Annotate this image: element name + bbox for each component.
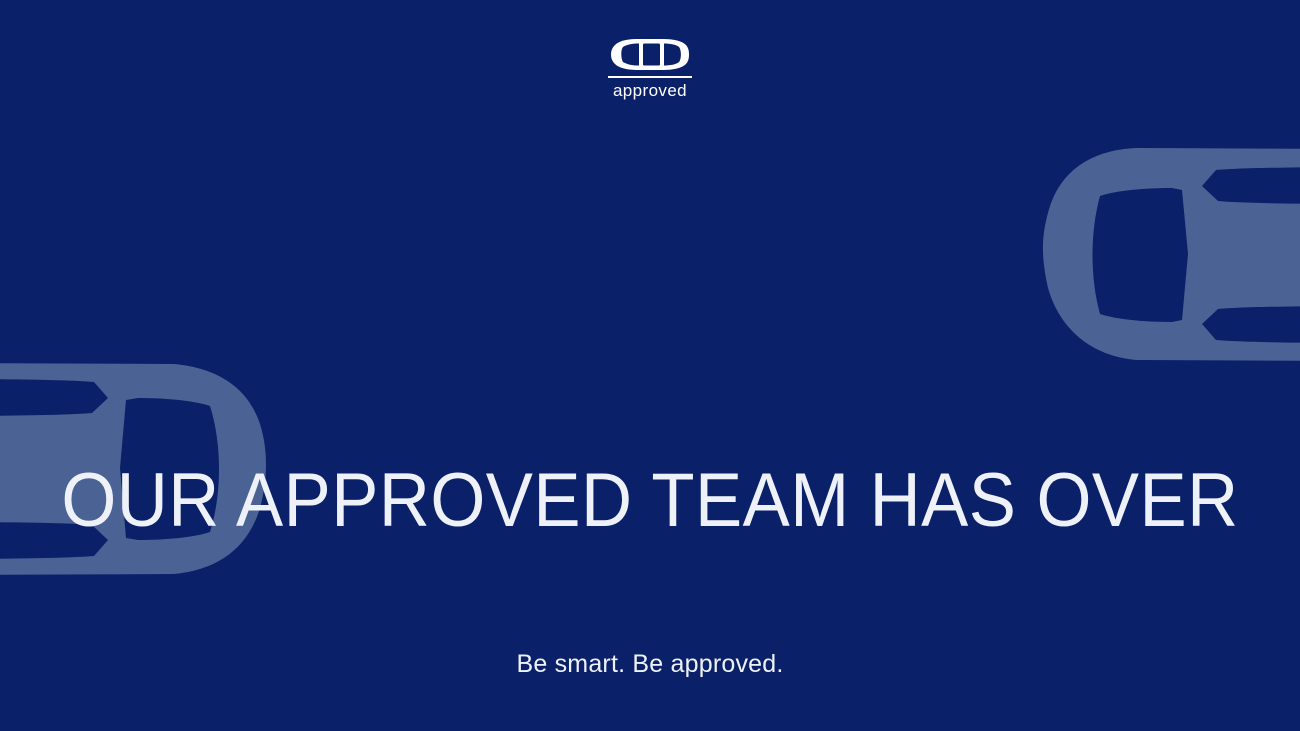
car-top-view-icon <box>611 38 689 71</box>
promo-slide: approved OUR APPROVED TEAM HAS OVER 150 … <box>0 0 1300 731</box>
logo-divider <box>608 76 692 78</box>
headline-line-1: OUR APPROVED TEAM HAS OVER <box>46 455 1255 548</box>
logo-wordmark: approved <box>613 82 687 99</box>
tagline: Be smart. Be approved. <box>0 652 1300 677</box>
brand-logo: approved <box>0 38 1300 99</box>
